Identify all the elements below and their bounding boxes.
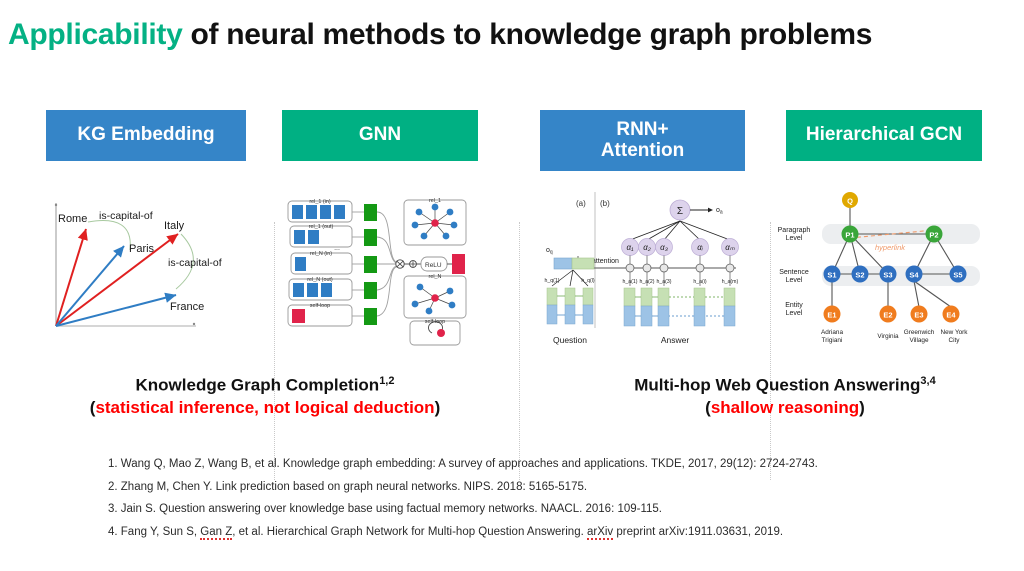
gnn-block-label-0: rel_1 (in) <box>309 199 330 205</box>
caption-line2-red: shallow reasoning <box>711 398 859 417</box>
alpha-label-1: α₂ <box>643 243 651 252</box>
card-header-gnn: GNN <box>282 110 478 161</box>
gnn-ellipsis: ... <box>334 245 340 252</box>
page-title: Applicability of neural methods to knowl… <box>8 18 1018 52</box>
card-header-rnn-attention: RNN+ Attention <box>540 110 745 171</box>
node-p1-label: P1 <box>845 231 854 240</box>
label-rome: Rome <box>58 213 87 225</box>
a-hidden-label-4: h_a(m) <box>722 279 739 285</box>
question-output-label: oq <box>546 247 553 256</box>
entity-name-3-line2: City <box>948 337 960 344</box>
bus-ellipsis: · · · <box>676 265 687 272</box>
bottom-label-question: Question <box>553 335 587 345</box>
card-header-label-line2: Attention <box>601 141 684 162</box>
panel-label-a: (a) <box>576 199 586 208</box>
a-hidden-label-1: h_a(2) <box>640 279 655 285</box>
caption-line1-superscript: 1,2 <box>379 375 394 387</box>
caption-line1-text: Knowledge Graph Completion <box>136 376 380 395</box>
caption-line-1: Knowledge Graph Completion1,2 <box>10 374 520 397</box>
bottom-label-answer: Answer <box>661 335 690 345</box>
reference-4-part2: , et al. Hierarchical Graph Network for … <box>232 526 587 538</box>
entity-name-0-line1: Adriana <box>821 329 843 336</box>
caption-paren-close: ) <box>435 398 441 417</box>
a-hidden-label-0: h_a(1) <box>623 279 638 285</box>
gnn-right-label-2: self-loop <box>425 319 445 325</box>
caption-line-2: (shallow reasoning) <box>530 397 1024 419</box>
level-label-paragraph-line1: Paragraph <box>778 227 811 234</box>
node-s2-label: S2 <box>855 271 864 280</box>
references-list: 1. Wang Q, Mao Z, Wang B, et al. Knowled… <box>108 458 988 548</box>
gnn-block-label-3: rel_N (out) <box>307 277 333 283</box>
label-italy: Italy <box>164 220 185 232</box>
label-paris: Paris <box>129 243 155 255</box>
reference-4-misspelled-gan: Gan Z <box>200 526 232 540</box>
level-label-sentence-line2: Level <box>786 277 803 284</box>
gnn-right-label-0: rel_1 <box>429 198 441 204</box>
node-s3-label: S3 <box>883 271 892 280</box>
gnn-svg: ReLU <box>282 188 478 353</box>
entity-name-3-line1: New York <box>941 329 969 336</box>
card-gnn[interactable]: GNN <box>282 110 478 375</box>
card-header-label: KG Embedding <box>77 125 214 146</box>
hierarchical-gcn-svg: Paragraph Level Sentence Level Entity Le… <box>762 188 982 356</box>
level-label-sentence-line1: Sentence <box>779 269 809 276</box>
reference-item-2: 2. Zhang M, Chen Y. Link prediction base… <box>108 481 988 493</box>
alpha-label-4: αₘ <box>725 243 735 252</box>
reference-4-part1: 4. Fang Y, Sun S, <box>108 526 200 538</box>
caption-line1-text: Multi-hop Web Question Answering <box>634 376 920 395</box>
node-e1-label: E1 <box>827 311 836 320</box>
entity-name-1-line1: Virginia <box>877 333 899 340</box>
entity-name-2-line1: Greenwich <box>904 329 935 336</box>
node-q-label: Q <box>847 197 853 206</box>
a-hidden-label-3: h_a(i) <box>693 279 707 285</box>
card-header-kg-embedding: KG Embedding <box>46 110 246 161</box>
node-s1-label: S1 <box>827 271 836 280</box>
reference-item-4: 4. Fang Y, Sun S, Gan Z, et al. Hierarch… <box>108 526 988 538</box>
figure-gnn: ReLU <box>282 188 478 353</box>
reference-item-1: 1. Wang Q, Mao Z, Wang B, et al. Knowled… <box>108 458 988 470</box>
card-header-hierarchical-gcn: Hierarchical GCN <box>786 110 982 161</box>
level-label-entity-line2: Level <box>786 310 803 317</box>
node-e2-label: E2 <box>883 311 892 320</box>
title-accent-word: Applicability <box>8 18 182 51</box>
card-header-label: GNN <box>359 125 401 146</box>
gnn-sum-node <box>396 260 404 268</box>
caption-line2-red: statistical inference, not logical deduc… <box>95 398 434 417</box>
figure-kg-embedding: Rome is-capital-of Italy Paris is-capita… <box>46 188 246 353</box>
node-p2-label: P2 <box>929 231 938 240</box>
reference-item-3: 3. Jain S. Question answering over knowl… <box>108 503 988 515</box>
sigma-label: Σ <box>677 206 683 217</box>
panel-label-b: (b) <box>600 199 610 208</box>
hyperlink-label: hyperlink <box>875 243 906 252</box>
card-rnn-attention[interactable]: RNN+ Attention (a) (b) Σ oa <box>540 110 745 375</box>
card-header-label: Hierarchical GCN <box>806 125 962 146</box>
alpha-label-2: α₃ <box>660 243 668 252</box>
level-label-paragraph-line2: Level <box>786 235 803 242</box>
gnn-block-label-2: rel_N (in) <box>310 251 332 257</box>
level-label-entity-line1: Entity <box>785 302 803 309</box>
figure-rnn-attention: (a) (b) Σ oa <box>540 190 745 358</box>
attention-label: attention <box>592 258 619 265</box>
caption-line1-superscript: 3,4 <box>920 375 935 387</box>
card-hierarchical-gcn[interactable]: Hierarchical GCN Paragraph Level Sentenc… <box>786 110 982 375</box>
label-is-capital-of-2: is-capital-of <box>168 257 222 269</box>
figure-hierarchical-gcn: Paragraph Level Sentence Level Entity Le… <box>762 188 982 356</box>
gnn-right-label-1: rel_N <box>429 274 442 280</box>
reference-4-misspelled-arxiv: arXiv <box>587 526 613 540</box>
kg-embedding-svg: Rome is-capital-of Italy Paris is-capita… <box>46 188 246 353</box>
card-header-label-line1: RNN+ <box>616 120 668 141</box>
label-is-capital-of-1: is-capital-of <box>99 210 153 222</box>
label-france: France <box>170 301 204 313</box>
node-s5-label: S5 <box>953 271 962 280</box>
rnn-attention-svg: (a) (b) Σ oa <box>540 190 745 358</box>
entity-name-0-line2: Trigiani <box>822 337 843 344</box>
caption-line-1: Multi-hop Web Question Answering3,4 <box>530 374 1024 397</box>
gnn-block-label-4: self-loop <box>310 303 330 309</box>
title-rest: of neural methods to knowledge graph pro… <box>182 18 872 51</box>
card-divider-1 <box>274 222 275 480</box>
caption-line-2: (statistical inference, not logical dedu… <box>10 397 520 419</box>
cards-row: KG Embedding <box>0 110 1024 375</box>
node-e4-label: E4 <box>946 311 956 320</box>
q-hidden-label-0: h_q(1) <box>545 278 560 284</box>
node-e3-label: E3 <box>914 311 923 320</box>
alpha-label-0: α₁ <box>626 243 634 252</box>
node-s4-label: S4 <box>909 271 919 280</box>
a-hidden-label-2: h_a(3) <box>657 279 672 285</box>
reference-4-part3: preprint arXiv:1911.03631, 2019. <box>613 526 783 538</box>
card-kg-embedding[interactable]: KG Embedding <box>46 110 246 375</box>
caption-paren-close: ) <box>859 398 865 417</box>
card-divider-2 <box>519 222 520 480</box>
gnn-block-label-1: rel_1 (out) <box>309 224 334 230</box>
gnn-activation-label: ReLU <box>425 262 442 269</box>
caption-multihop-web-qa: Multi-hop Web Question Answering3,4 (sha… <box>530 374 1024 420</box>
entity-name-2-line2: Village <box>909 337 929 344</box>
output-label: oa <box>716 207 723 216</box>
caption-knowledge-graph-completion: Knowledge Graph Completion1,2 (statistic… <box>10 374 520 420</box>
